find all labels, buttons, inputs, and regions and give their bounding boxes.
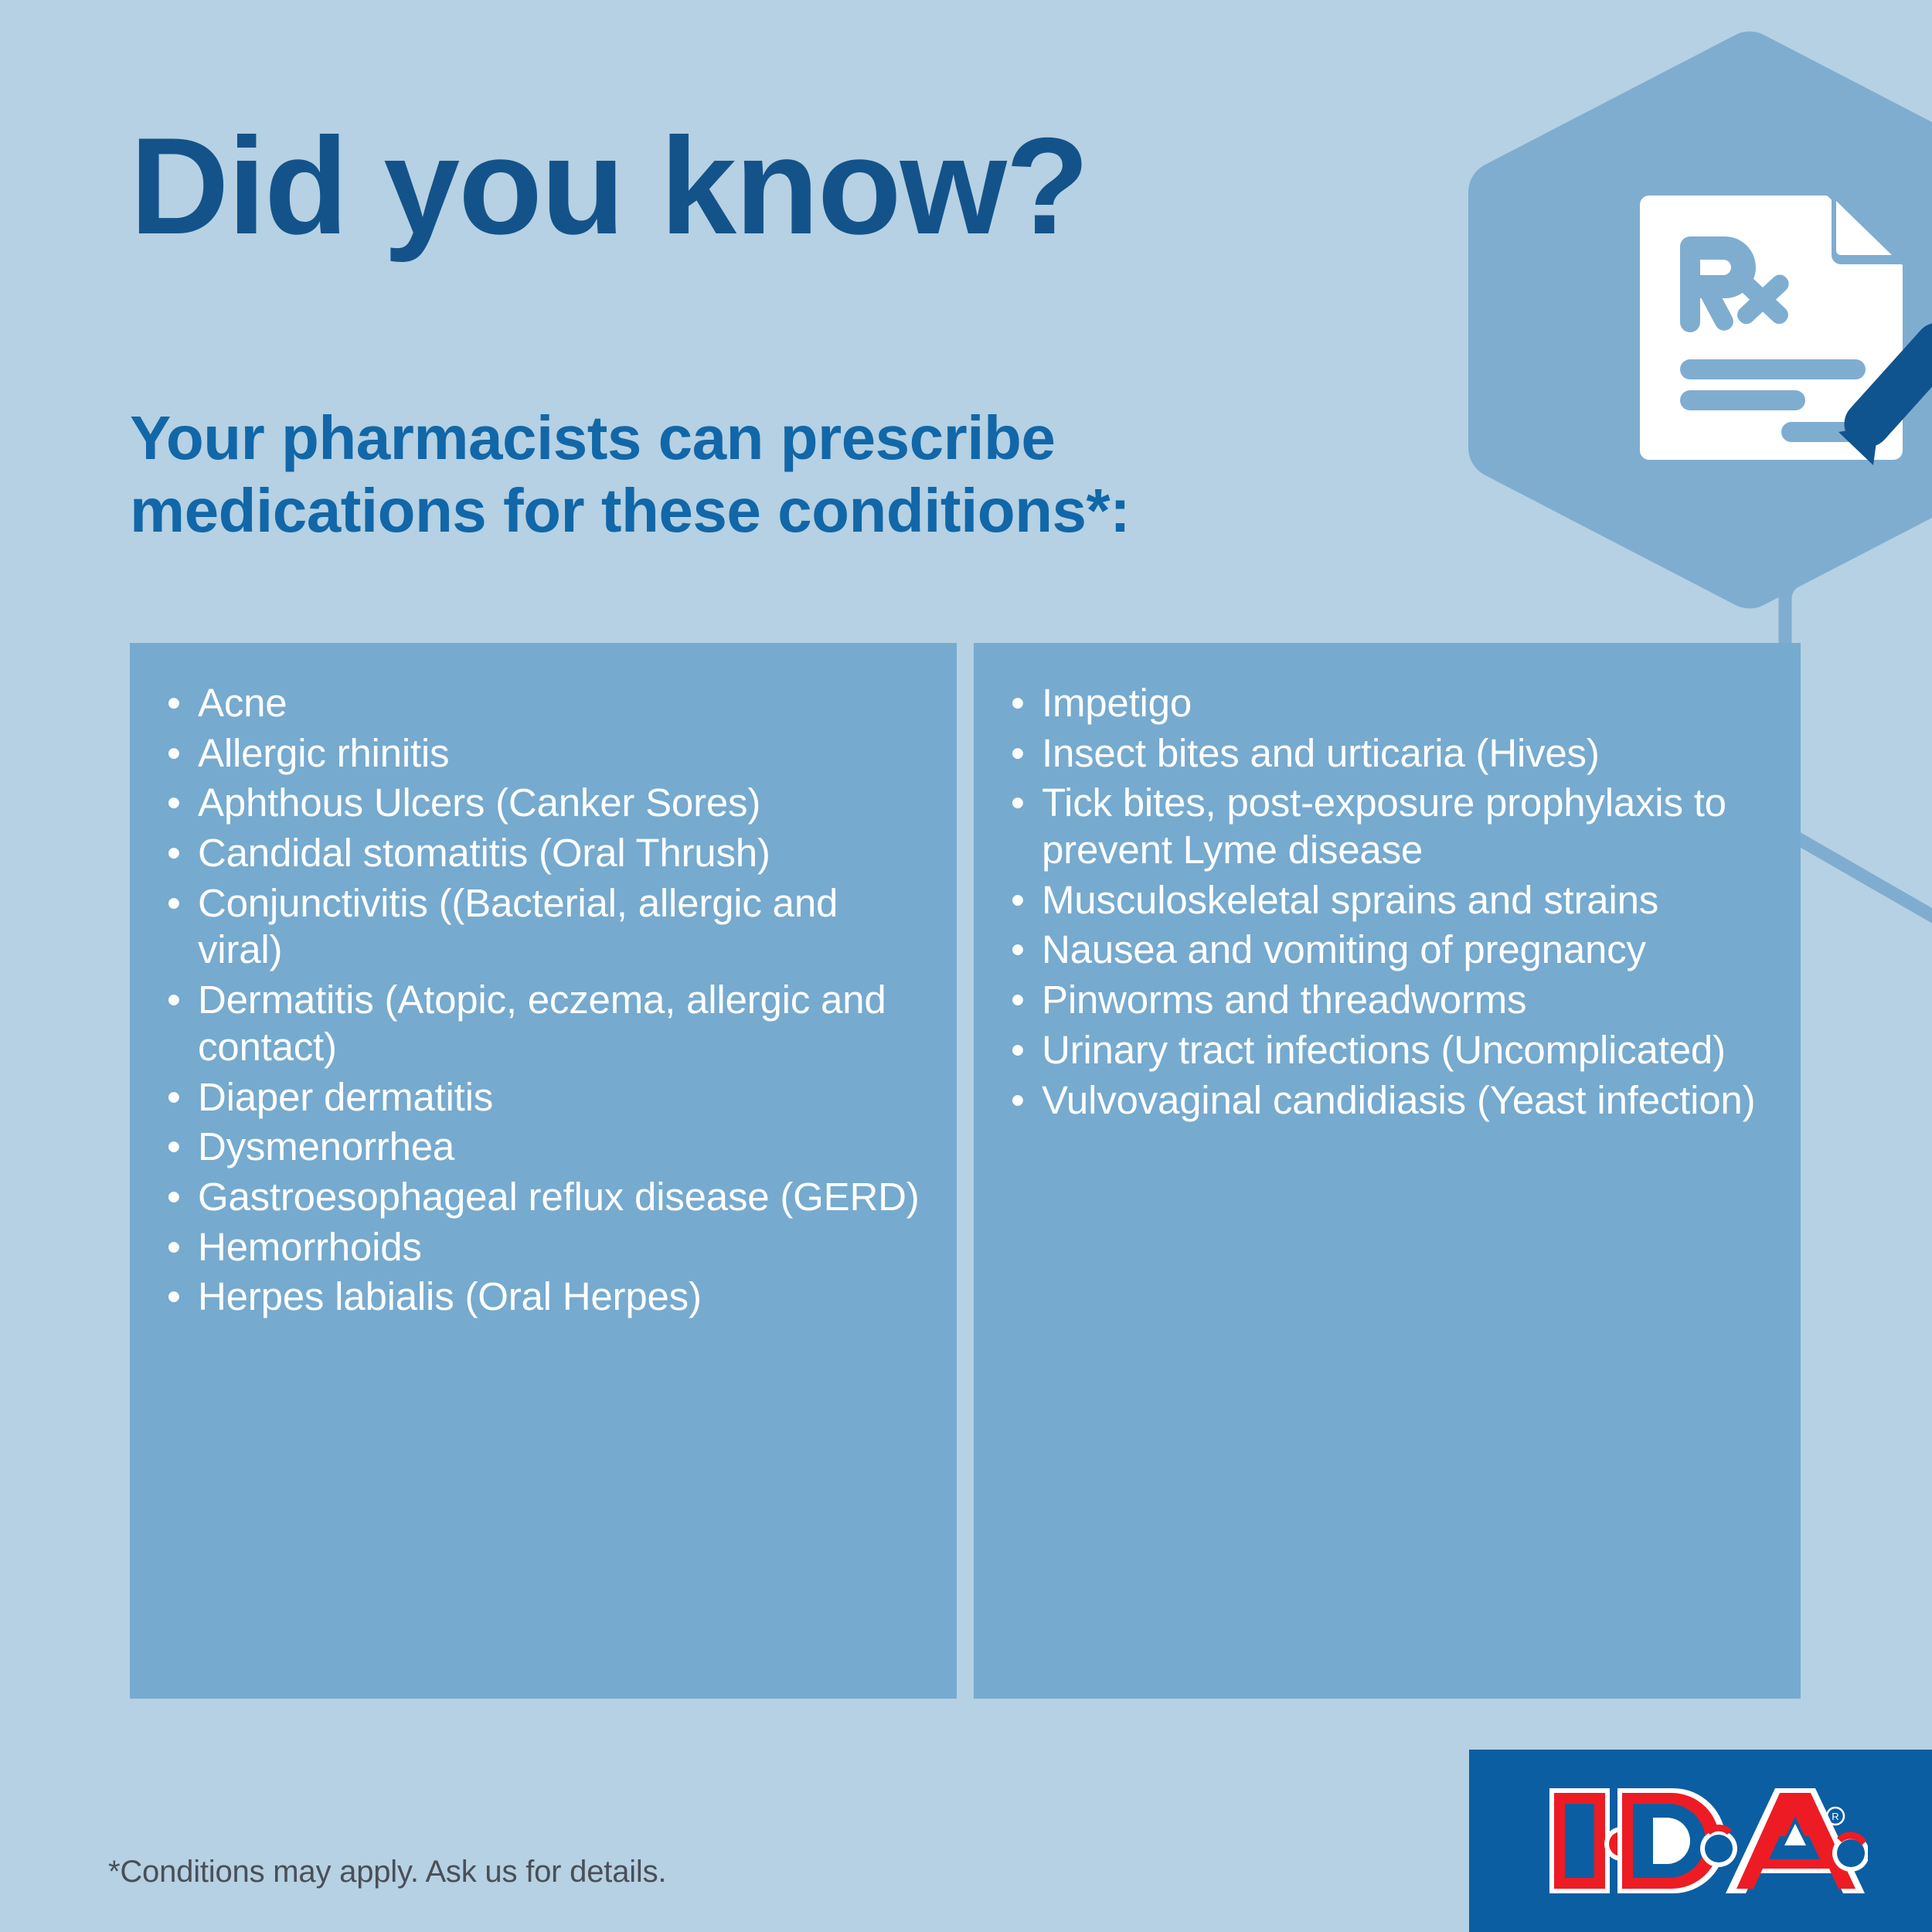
footnote: *Conditions may apply. Ask us for detail… (108, 1855, 666, 1889)
list-item: Vulvovaginal candidiasis (Yeast infectio… (1005, 1077, 1770, 1124)
conditions-list-left: Acne Allergic rhinitis Aphthous Ulcers (… (161, 680, 926, 1321)
list-item: Candidal stomatitis (Oral Thrush) (161, 830, 926, 877)
rx-badge (1462, 29, 1932, 611)
list-item: Allergic rhinitis (161, 730, 926, 777)
list-item: Urinary tract infections (Uncomplicated) (1005, 1027, 1770, 1074)
subtitle-line-1: Your pharmacists can prescribe (130, 402, 1382, 474)
subtitle-line-2: medications for these conditions*: (130, 474, 1382, 547)
list-item: Conjunctivitis ((Bacterial, allergic and… (161, 880, 926, 974)
conditions-column-left: Acne Allergic rhinitis Aphthous Ulcers (… (130, 643, 957, 1699)
list-item: Herpes labialis (Oral Herpes) (161, 1274, 926, 1321)
list-item: Aphthous Ulcers (Canker Sores) (161, 780, 926, 827)
conditions-panel: Acne Allergic rhinitis Aphthous Ulcers (… (130, 643, 1801, 1699)
list-item: Hemorrhoids (161, 1224, 926, 1271)
page-subtitle: Your pharmacists can prescribe medicatio… (130, 402, 1382, 546)
page-title: Did you know? (130, 116, 1366, 257)
list-item: Acne (161, 680, 926, 727)
rx-prescription-icon (1462, 29, 1932, 611)
list-item: Gastroesophageal reflux disease (GERD) (161, 1174, 926, 1221)
list-item: Nausea and vomiting of pregnancy (1005, 927, 1770, 974)
ida-logo-mark: R (1543, 1782, 1868, 1900)
list-item: Impetigo (1005, 680, 1770, 727)
list-item: Insect bites and urticaria (Hives) (1005, 730, 1770, 777)
list-item: Dysmenorrhea (161, 1124, 926, 1171)
conditions-list-right: Impetigo Insect bites and urticaria (Hiv… (1005, 680, 1770, 1124)
list-item: Diaper dermatitis (161, 1074, 926, 1121)
list-item: Musculoskeletal sprains and strains (1005, 877, 1770, 924)
conditions-column-right: Impetigo Insect bites and urticaria (Hiv… (974, 643, 1801, 1699)
svg-text:R: R (1832, 1811, 1838, 1822)
list-item: Tick bites, post-exposure prophylaxis to… (1005, 780, 1770, 873)
ida-logo: R (1469, 1750, 1932, 1932)
registered-trademark-icon: R (1827, 1808, 1844, 1825)
list-item: Dermatitis (Atopic, eczema, allergic and… (161, 977, 926, 1070)
list-item: Pinworms and threadworms (1005, 977, 1770, 1024)
